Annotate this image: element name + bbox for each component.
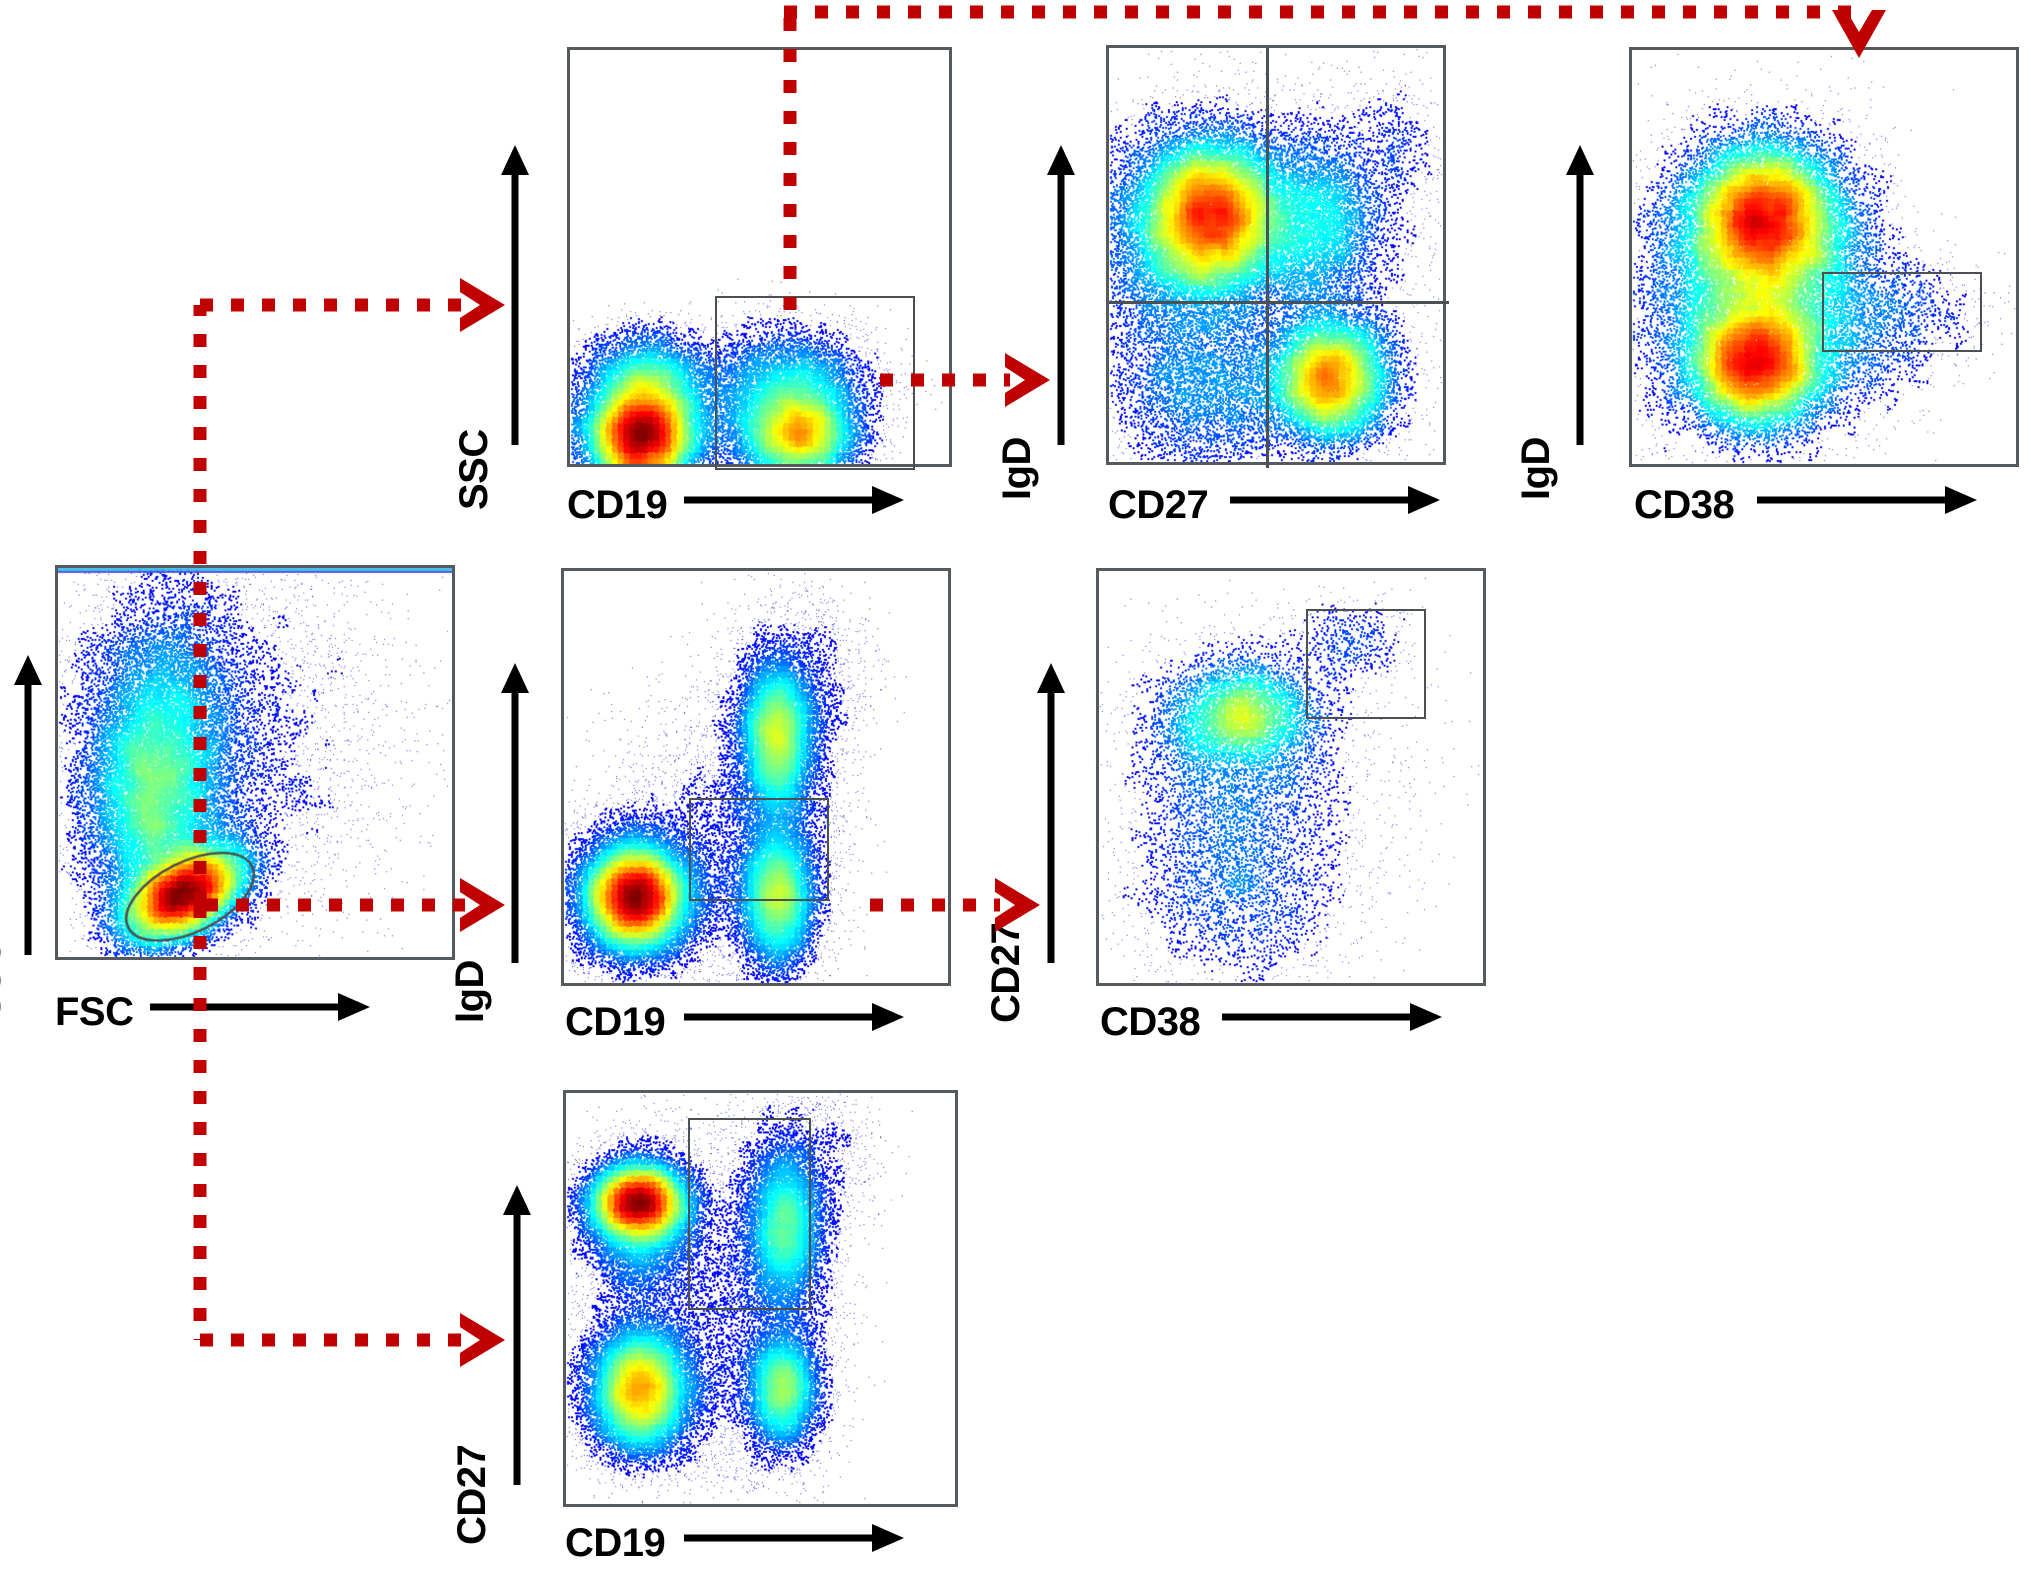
cd38-cd27-x-axis-label: CD38: [1100, 1000, 1200, 1045]
cd19-cd27-plot-frame: [563, 1090, 958, 1507]
fsc-ssc-y-axis-label: SSC: [0, 939, 10, 1020]
cd38-igd-x-axis-label: CD38: [1634, 483, 1734, 528]
cd19-igd-y-axis-label: IgD: [448, 960, 493, 1023]
cd19-cd27-y-axis-arrow: [497, 1185, 537, 1485]
cd38-igd-x-axis-arrow: [1757, 478, 1977, 522]
cd27-igd-x-axis-arrow: [1230, 478, 1440, 522]
fsc-ssc-y-axis-arrow: [8, 655, 48, 955]
cd27-igd-y-axis-arrow: [1041, 145, 1081, 445]
cd19-ssc-y-axis-label: SSC: [452, 429, 497, 510]
cd38-igd-plot-frame: [1629, 47, 2019, 467]
fsc-ssc-x-axis-label: FSC: [55, 990, 134, 1035]
fsc-ssc-plot-frame: [55, 565, 455, 960]
cd19-ssc-x-axis-arrow: [684, 478, 904, 522]
cd19-igd-plot-frame: [561, 568, 951, 986]
cd19-igd-x-axis-label: CD19: [565, 1000, 665, 1045]
cd19-ssc-x-axis-label: CD19: [567, 483, 667, 528]
cd27-igd-plot-frame: [1106, 45, 1446, 465]
cd38-cd27-y-axis-label: CD27: [984, 923, 1029, 1023]
cd19-cd27-x-axis-arrow: [684, 1516, 904, 1560]
cd38-igd-y-axis-arrow: [1560, 145, 1600, 445]
arrowhead-to-cd19-igd: [460, 878, 505, 932]
fsc-ssc-x-axis-arrow: [150, 985, 370, 1029]
cd19-igd-density-canvas: [564, 571, 948, 983]
cd38-igd-density-canvas: [1632, 50, 2016, 464]
cd19-igd-x-axis-arrow: [684, 995, 904, 1039]
cd38-cd27-density-canvas: [1099, 571, 1483, 983]
cd19-ssc-density-canvas: [570, 50, 949, 464]
cd38-cd27-x-axis-arrow: [1222, 995, 1442, 1039]
arrowhead-to-cd19-cd27: [460, 1313, 505, 1367]
cd19-ssc-y-axis-arrow: [495, 145, 535, 445]
cd19-cd27-x-axis-label: CD19: [565, 1521, 665, 1566]
fsc-ssc-density-canvas: [58, 568, 452, 957]
arrowhead-to-cd19-ssc: [460, 278, 505, 332]
cd19-ssc-plot-frame: [567, 47, 952, 467]
cd27-igd-x-axis-label: CD27: [1108, 483, 1208, 528]
cd19-cd27-density-canvas: [566, 1093, 955, 1504]
cd27-igd-y-axis-label: IgD: [995, 437, 1040, 500]
gating-strategy-figure: SSC FSC SSC CD19: [0, 0, 2031, 1579]
cd27-igd-density-canvas: [1109, 48, 1443, 462]
cd19-cd27-y-axis-label: CD27: [450, 1445, 495, 1545]
cd38-cd27-y-axis-arrow: [1031, 663, 1071, 963]
cd38-cd27-plot-frame: [1096, 568, 1486, 986]
arrowhead-to-cd27-igd: [1005, 353, 1050, 407]
cd38-igd-y-axis-label: IgD: [1514, 437, 1559, 500]
cd19-igd-y-axis-arrow: [495, 663, 535, 963]
